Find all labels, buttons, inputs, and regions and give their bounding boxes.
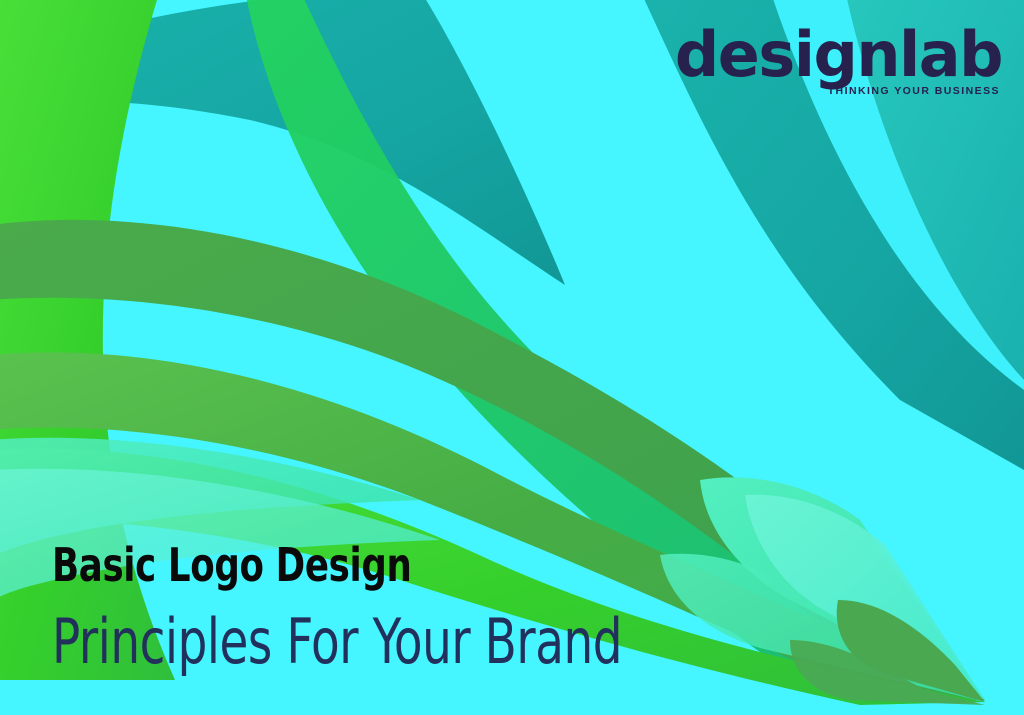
headline-line-1: Basic Logo Design	[52, 542, 636, 590]
brand-logo: designlab THINKING YOUR BUSINESS	[675, 26, 1002, 96]
slide-canvas: designlab THINKING YOUR BUSINESS Basic L…	[0, 0, 1024, 715]
headline-line-2: Principles For Your Brand	[52, 610, 622, 673]
headline-block: Basic Logo Design Principles For Your Br…	[52, 542, 731, 673]
brand-wordmark: designlab	[675, 26, 1002, 85]
